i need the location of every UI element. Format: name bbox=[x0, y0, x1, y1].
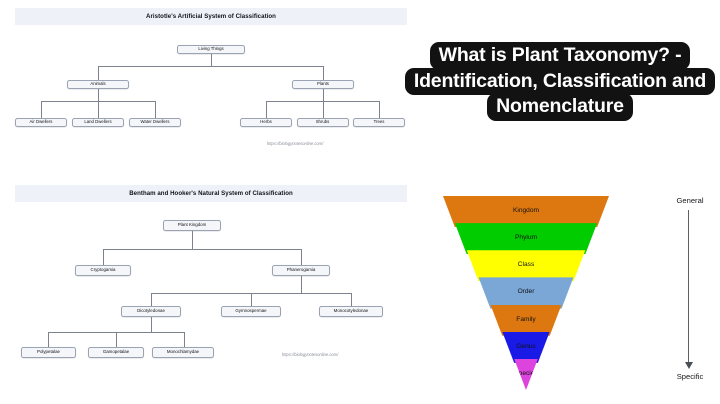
pyramid-tier-kingdom: Kingdom bbox=[443, 196, 609, 227]
edge-level2-bus bbox=[98, 66, 323, 67]
pyramid-tier-label: Phylum bbox=[515, 234, 537, 241]
pyramid-tier-family: Family bbox=[490, 305, 561, 336]
edge-gymno-up bbox=[251, 293, 252, 307]
pyramid-tier-order: Order bbox=[479, 277, 574, 308]
edge-trees-up bbox=[379, 101, 380, 119]
node-monochlamydae: Monochlamydae bbox=[152, 347, 214, 358]
headline-line-2: Identification, Classification and bbox=[405, 68, 715, 96]
node-dicotyledonae: Dicotyledonae bbox=[121, 306, 181, 317]
node-shrubs: Shrubs bbox=[297, 118, 349, 127]
aristotle-diagram: Aristotle's Artificial System of Classif… bbox=[15, 8, 407, 158]
node-herbs: Herbs bbox=[240, 118, 292, 127]
edge-root-down bbox=[211, 54, 212, 66]
edge-air-up bbox=[41, 101, 42, 119]
headline-line-3: Nomenclature bbox=[487, 93, 633, 121]
edge-plants-down bbox=[323, 89, 324, 101]
pyramid-tier-label: Kingdom bbox=[513, 207, 539, 214]
bentham-hooker-diagram-title: Bentham and Hooker's Natural System of C… bbox=[15, 185, 407, 202]
node-water-dwellers: Water Dwellers bbox=[129, 118, 181, 127]
pyramid-tier-genus: Genus bbox=[502, 332, 549, 363]
headline-banner: What is Plant Taxonomy? - Identification… bbox=[410, 42, 710, 121]
aristotle-watermark: https://biologynotesonline.com/ bbox=[267, 141, 323, 146]
node-air-dwellers: Air Dwellers bbox=[15, 118, 67, 127]
bentham-hooker-watermark: https://biologynotesonline.com/ bbox=[282, 352, 338, 357]
node-monocotyledonae: Monocotyledonae bbox=[319, 306, 383, 317]
node-gamopetalae: Gamopetalae bbox=[88, 347, 144, 358]
headline-line-1: What is Plant Taxonomy? - bbox=[430, 42, 691, 70]
edge-phanero-down bbox=[301, 276, 302, 293]
edge-poly-up bbox=[48, 332, 49, 348]
edge-monocot-up bbox=[351, 293, 352, 307]
axis-line bbox=[688, 210, 689, 365]
edge-plants-up bbox=[323, 66, 324, 81]
axis-label-specific: Specific bbox=[660, 372, 720, 381]
taxonomy-pyramid: KingdomPhylumClassOrderFamilyGenusSpecie… bbox=[443, 196, 609, 386]
node-polypetalae: Polypetalae bbox=[21, 347, 76, 358]
edge-dicot-up bbox=[151, 293, 152, 307]
edge-animals-down bbox=[98, 89, 99, 101]
node-living-things: Living Things bbox=[177, 45, 245, 54]
edge-animals-up bbox=[98, 66, 99, 81]
edge-land-up bbox=[98, 101, 99, 119]
edge-phanero-up bbox=[301, 249, 302, 266]
node-cryptogamia: Cryptogamia bbox=[75, 265, 131, 276]
pyramid-tier-label: Species bbox=[514, 370, 537, 377]
edge-dicot-down bbox=[151, 317, 152, 332]
aristotle-diagram-title: Aristotle's Artificial System of Classif… bbox=[15, 8, 407, 25]
pyramid-tier-label: Class bbox=[518, 261, 535, 268]
pyramid-tier-label: Order bbox=[518, 288, 535, 295]
edge-water-up bbox=[155, 101, 156, 119]
node-plant-kingdom: Plant Kingdom bbox=[163, 220, 221, 231]
edge-pk-down bbox=[192, 231, 193, 249]
edge-gamo-up bbox=[116, 332, 117, 348]
node-trees: Trees bbox=[353, 118, 405, 127]
pyramid-tier-class: Class bbox=[467, 250, 586, 281]
edge-herbs-up bbox=[266, 101, 267, 119]
pyramid-tier-label: Genus bbox=[516, 343, 535, 350]
axis-label-general: General bbox=[660, 196, 720, 205]
edge-shrubs-up bbox=[323, 101, 324, 119]
edge-monochl-up bbox=[184, 332, 185, 348]
pyramid-tier-phylum: Phylum bbox=[455, 223, 597, 254]
edge-crypto-up bbox=[103, 249, 104, 266]
pyramid-tier-label: Family bbox=[516, 316, 535, 323]
pyramid-tier-species: Species bbox=[514, 359, 538, 390]
node-plants: Plants bbox=[292, 80, 354, 89]
node-phanerogamia: Phanerogamia bbox=[272, 265, 330, 276]
page-canvas: Aristotle's Artificial System of Classif… bbox=[0, 0, 720, 404]
general-specific-axis: General Specific bbox=[660, 196, 720, 386]
bentham-hooker-diagram: Bentham and Hooker's Natural System of C… bbox=[15, 185, 407, 385]
node-land-dwellers: Land Dwellers bbox=[72, 118, 124, 127]
edge-level2-bus-bh bbox=[103, 249, 301, 250]
axis-arrowhead-icon bbox=[685, 362, 693, 369]
node-animals: Animals bbox=[67, 80, 129, 89]
node-gymnospermae: Gymnospermae bbox=[221, 306, 281, 317]
